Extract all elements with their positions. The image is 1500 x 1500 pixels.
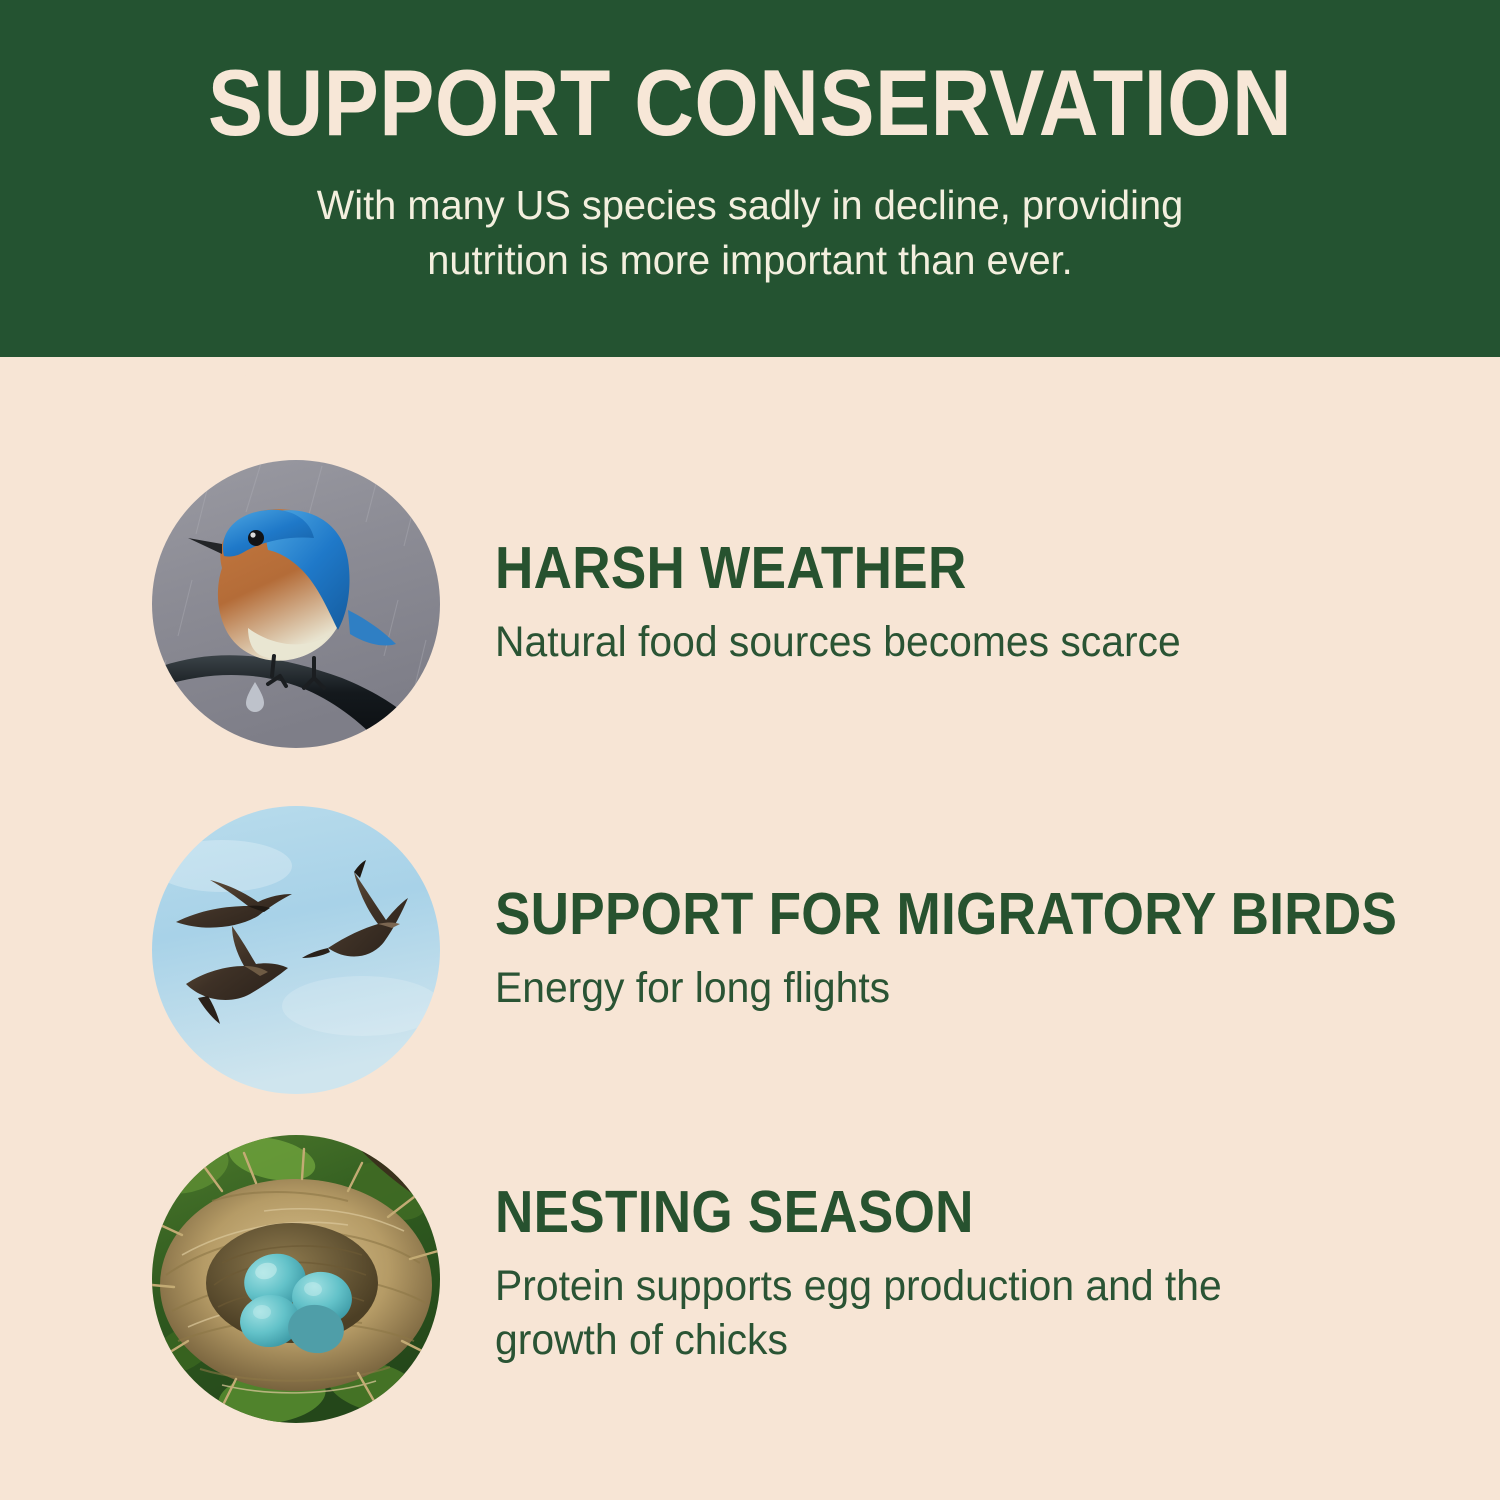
feature-heading: SUPPORT FOR MIGRATORY BIRDS — [495, 885, 1305, 944]
list-item: SUPPORT FOR MIGRATORY BIRDS Energy for l… — [152, 806, 1432, 1094]
feature-text-block: NESTING SEASON Protein supports egg prod… — [495, 1135, 1395, 1423]
conservation-infographic: SUPPORT CONSERVATION With many US specie… — [0, 0, 1500, 1500]
nest-with-eggs-illustration — [152, 1135, 440, 1423]
nest-eggs-photo — [152, 1135, 440, 1423]
feature-heading: HARSH WEATHER — [495, 539, 1305, 598]
feature-description: Energy for long flights — [495, 961, 1284, 1015]
list-item: HARSH WEATHER Natural food sources becom… — [152, 460, 1432, 748]
feature-text-block: SUPPORT FOR MIGRATORY BIRDS Energy for l… — [495, 806, 1395, 1094]
feature-description: Natural food sources becomes scarce — [495, 615, 1284, 669]
feature-description: Protein supports egg production and the … — [495, 1259, 1265, 1367]
feature-heading: NESTING SEASON — [495, 1183, 1305, 1242]
header-banner: SUPPORT CONSERVATION With many US specie… — [0, 0, 1500, 357]
header-content: SUPPORT CONSERVATION With many US specie… — [0, 0, 1500, 287]
subtitle-line-1: With many US species sadly in decline, p… — [236, 178, 1264, 232]
feature-text-block: HARSH WEATHER Natural food sources becom… — [495, 460, 1395, 748]
flying-birds-illustration — [152, 806, 440, 1094]
migrating-birds-photo — [152, 806, 440, 1094]
page-title: SUPPORT CONSERVATION — [90, 60, 1410, 146]
header-subtitle: With many US species sadly in decline, p… — [236, 178, 1264, 286]
subtitle-line-2: nutrition is more important than ever. — [236, 233, 1264, 287]
list-item: NESTING SEASON Protein supports egg prod… — [152, 1135, 1432, 1423]
bluebird-photo — [152, 460, 440, 748]
zigzag-divider — [0, 352, 1500, 410]
bluebird-illustration — [152, 460, 440, 748]
